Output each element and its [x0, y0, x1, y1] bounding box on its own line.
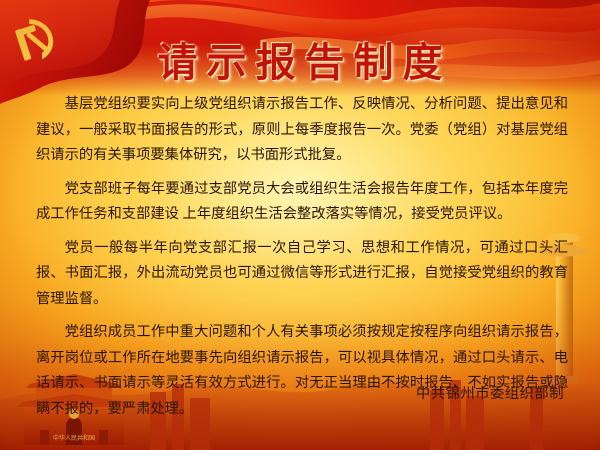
paragraph-4: 党组织成员工作中重大问题和个人有关事项必须按规定按程序向组织请示报告，离开岗位或… — [36, 320, 568, 422]
page-title: 请示报告制度 — [0, 30, 600, 88]
body-text: 基层党组织要实向上级党组织请示报告工作、反映情况、分析问题、提出意见和建议，一般… — [36, 92, 568, 430]
poster-content: 请示报告制度 基层党组织要实向上级党组织请示报告工作、反映情况、分析问题、提出意… — [0, 0, 600, 450]
issuer-signature: 中共锦州市委组织部制 — [416, 382, 564, 403]
poster-canvas: 中华人民共和国 请示报告制度 基层党组织要实向上级党组织请示报告工作、反映情况、… — [0, 0, 600, 450]
paragraph-2: 党支部班子每年要通过支部党员大会或组织生活会报告年度工作，包括本年度完成工作任务… — [36, 177, 568, 228]
paragraph-3: 党员一般每半年向党支部汇报一次自己学习、思想和工作情况，可通过口头汇报、书面汇报… — [36, 236, 568, 313]
paragraph-1: 基层党组织要实向上级党组织请示报告工作、反映情况、分析问题、提出意见和建议，一般… — [36, 92, 568, 169]
